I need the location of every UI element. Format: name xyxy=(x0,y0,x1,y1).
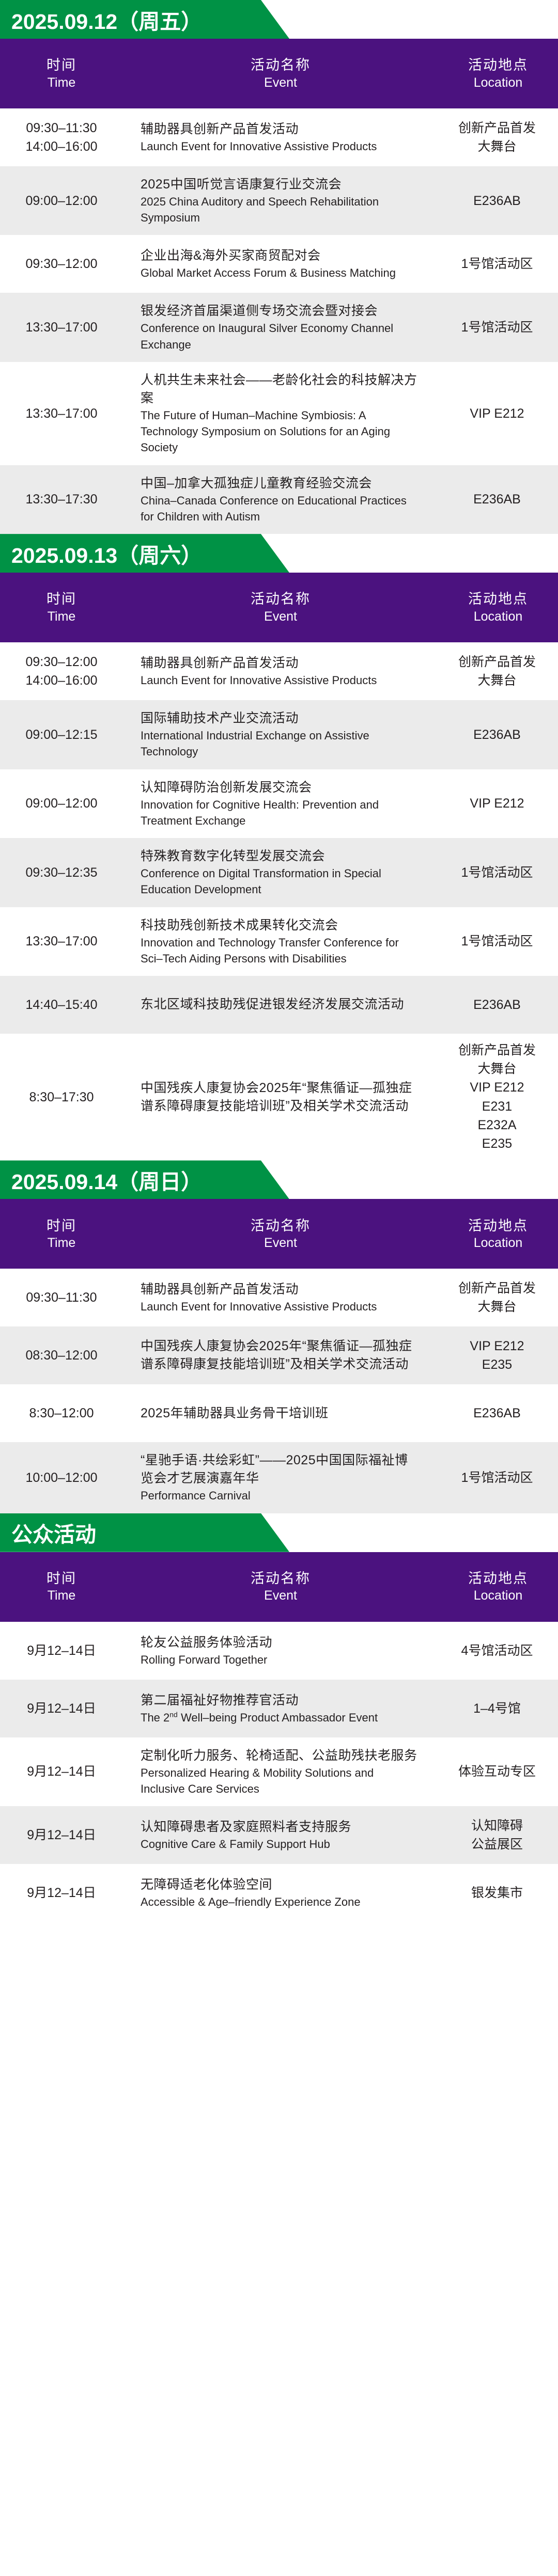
row-event-en: Cognitive Care & Family Support Hub xyxy=(141,1836,417,1852)
table-header-row: 时间Time活动名称Event活动地点Location xyxy=(0,1552,558,1622)
row-event-en: Performance Carnival xyxy=(141,1488,417,1504)
row-event: 中国残疾人康复协会2025年“聚焦循证—孤独症谱系障碍康复技能培训班”及相关学术… xyxy=(123,1070,438,1125)
ordinal-superscript: nd xyxy=(169,1710,178,1718)
day-section: 公众活动时间Time活动名称Event活动地点Location9月12–14日轮… xyxy=(0,1513,558,1922)
table-row: 08:30–12:00中国残疾人康复协会2025年“聚焦循证—孤独症谱系障碍康复… xyxy=(0,1326,558,1384)
column-header-time-en: Time xyxy=(0,1587,123,1604)
row-location: 创新产品首发 大舞台 xyxy=(438,112,558,164)
row-event-en: International Industrial Exchange on Ass… xyxy=(141,728,417,760)
row-location: 1号馆活动区 xyxy=(438,311,558,344)
row-event-en: Launch Event for Innovative Assistive Pr… xyxy=(141,1299,417,1315)
column-header-time: 时间Time xyxy=(0,1217,123,1252)
column-header-time-en: Time xyxy=(0,1235,123,1251)
row-event: 认知障碍患者及家庭照料者支持服务Cognitive Care & Family … xyxy=(123,1809,438,1861)
row-event-en: Personalized Hearing & Mobility Solution… xyxy=(141,1765,417,1797)
row-event-cn: 无障碍适老化体验空间 xyxy=(141,1876,417,1894)
row-event-cn: 企业出海&海外买家商贸配对会 xyxy=(141,247,417,265)
row-event-cn: 辅助器具创新产品首发活动 xyxy=(141,654,417,672)
table-row: 10:00–12:00“星驰手语·共绘彩虹”——2025中国国际福祉博览会才艺展… xyxy=(0,1442,558,1513)
row-event: 辅助器具创新产品首发活动Launch Event for Innovative … xyxy=(123,645,438,698)
row-event: 定制化听力服务、轮椅适配、公益助残扶老服务Personalized Hearin… xyxy=(123,1737,438,1806)
table-row: 9月12–14日认知障碍患者及家庭照料者支持服务Cognitive Care &… xyxy=(0,1806,558,1864)
row-event: 认知障碍防治创新发展交流会Innovation for Cognitive He… xyxy=(123,769,438,838)
row-location: VIP E212 xyxy=(438,787,558,820)
day-banner: 2025.09.14（周日） xyxy=(0,1160,558,1199)
column-header-location: 活动地点Location xyxy=(438,1217,558,1252)
day-banner: 公众活动 xyxy=(0,1513,558,1552)
row-event-cn: 国际辅助技术产业交流活动 xyxy=(141,709,417,728)
row-event-cn: 中国残疾人康复协会2025年“聚焦循证—孤独症谱系障碍康复技能培训班”及相关学术… xyxy=(141,1337,417,1373)
row-event-en: China–Canada Conference on Educational P… xyxy=(141,493,417,525)
day-banner-label: 2025.09.13（周六） xyxy=(11,534,202,573)
row-event: 辅助器具创新产品首发活动Launch Event for Innovative … xyxy=(123,111,438,164)
column-header-event: 活动名称Event xyxy=(123,1217,438,1252)
day-section: 2025.09.14（周日）时间Time活动名称Event活动地点Locatio… xyxy=(0,1160,558,1513)
row-event: 国际辅助技术产业交流活动International Industrial Exc… xyxy=(123,700,438,769)
table-header-row: 时间Time活动名称Event活动地点Location xyxy=(0,39,558,108)
row-event: 银发经济首届渠道侧专场交流会暨对接会Conference on Inaugura… xyxy=(123,293,438,361)
row-location: E236AB xyxy=(438,483,558,516)
row-time: 14:40–15:40 xyxy=(0,988,123,1021)
row-event-cn: 科技助残创新技术成果转化交流会 xyxy=(141,916,417,935)
row-event-cn: 2025中国听觉言语康复行业交流会 xyxy=(141,176,417,194)
row-location: E236AB xyxy=(438,1397,558,1430)
row-event: 人机共生未来社会——老龄化社会的科技解决方案The Future of Huma… xyxy=(123,362,438,465)
row-event-cn: 认知障碍防治创新发展交流会 xyxy=(141,779,417,797)
row-event: 企业出海&海外买家商贸配对会Global Market Access Forum… xyxy=(123,238,438,290)
table-row: 13:30–17:30中国–加拿大孤独症儿童教育经验交流会China–Canad… xyxy=(0,465,558,534)
row-location: 创新产品首发 大舞台 xyxy=(438,645,558,698)
column-header-time-en: Time xyxy=(0,608,123,625)
table-row: 09:30–12:00 14:00–16:00辅助器具创新产品首发活动Launc… xyxy=(0,642,558,700)
column-header-time-cn: 时间 xyxy=(0,1217,123,1235)
row-time: 09:00–12:00 xyxy=(0,787,123,820)
table-row: 09:30–11:30辅助器具创新产品首发活动Launch Event for … xyxy=(0,1269,558,1326)
row-location: 1号馆活动区 xyxy=(438,247,558,280)
row-time: 9月12–14日 xyxy=(0,1819,123,1852)
row-time: 9月12–14日 xyxy=(0,1755,123,1788)
row-location: 1号馆活动区 xyxy=(438,925,558,958)
row-time: 09:30–12:35 xyxy=(0,856,123,889)
row-event-en: The Future of Human–Machine Symbiosis: A… xyxy=(141,407,417,456)
table-row: 9月12–14日轮友公益服务体验活动Rolling Forward Togeth… xyxy=(0,1622,558,1680)
column-header-location-cn: 活动地点 xyxy=(438,1570,558,1588)
column-header-time-cn: 时间 xyxy=(0,1570,123,1588)
column-header-event-cn: 活动名称 xyxy=(123,590,438,608)
column-header-time-cn: 时间 xyxy=(0,56,123,74)
row-time: 9月12–14日 xyxy=(0,1634,123,1667)
row-event: 2025中国听觉言语康复行业交流会2025 China Auditory and… xyxy=(123,166,438,235)
row-event: 2025年辅助器具业务骨干培训班 xyxy=(123,1395,438,1432)
table-row: 13:30–17:00科技助残创新技术成果转化交流会Innovation and… xyxy=(0,907,558,976)
column-header-time: 时间Time xyxy=(0,56,123,91)
row-location: 创新产品首发 大舞台 VIP E212 E231 E232A E235 xyxy=(438,1034,558,1161)
row-event-en: 2025 China Auditory and Speech Rehabilit… xyxy=(141,194,417,226)
table-row: 9月12–14日无障碍适老化体验空间Accessible & Age–frien… xyxy=(0,1864,558,1922)
column-header-event-cn: 活动名称 xyxy=(123,1217,438,1235)
table-row: 8:30–17:30中国残疾人康复协会2025年“聚焦循证—孤独症谱系障碍康复技… xyxy=(0,1034,558,1161)
row-time: 9月12–14日 xyxy=(0,1876,123,1909)
column-header-time: 时间Time xyxy=(0,1570,123,1604)
table-row: 09:00–12:15国际辅助技术产业交流活动International Ind… xyxy=(0,700,558,769)
row-event-en: Launch Event for Innovative Assistive Pr… xyxy=(141,138,417,154)
row-event: 中国残疾人康复协会2025年“聚焦循证—孤独症谱系障碍康复技能培训班”及相关学术… xyxy=(123,1328,438,1383)
day-section: 2025.09.12（周五）时间Time活动名称Event活动地点Locatio… xyxy=(0,0,558,534)
row-event-en: Conference on Inaugural Silver Economy C… xyxy=(141,320,417,352)
day-banner: 2025.09.12（周五） xyxy=(0,0,558,39)
table-row: 09:30–12:35特殊教育数字化转型发展交流会Conference on D… xyxy=(0,838,558,907)
row-event-en: Innovation and Technology Transfer Confe… xyxy=(141,935,417,967)
row-event-cn: “星驰手语·共绘彩虹”——2025中国国际福祉博览会才艺展演嘉年华 xyxy=(141,1451,417,1488)
column-header-event-cn: 活动名称 xyxy=(123,56,438,74)
row-time: 09:00–12:15 xyxy=(0,718,123,751)
table-row: 8:30–12:002025年辅助器具业务骨干培训班E236AB xyxy=(0,1384,558,1442)
row-time: 09:00–12:00 xyxy=(0,184,123,217)
table-row: 13:30–17:00人机共生未来社会——老龄化社会的科技解决方案The Fut… xyxy=(0,362,558,465)
row-event: 第二届福祉好物推荐官活动The 2nd Well–being Product A… xyxy=(123,1682,438,1735)
column-header-location-en: Location xyxy=(438,1235,558,1251)
row-event-cn: 2025年辅助器具业务骨干培训班 xyxy=(141,1404,417,1423)
row-time: 09:30–12:00 14:00–16:00 xyxy=(0,645,123,698)
table-row: 14:40–15:40东北区域科技助残促进银发经济发展交流活动E236AB xyxy=(0,976,558,1034)
column-header-location-en: Location xyxy=(438,608,558,625)
row-event: 轮友公益服务体验活动Rolling Forward Together xyxy=(123,1624,438,1677)
row-time: 08:30–12:00 xyxy=(0,1339,123,1372)
row-event: 特殊教育数字化转型发展交流会Conference on Digital Tran… xyxy=(123,838,438,907)
row-event: 中国–加拿大孤独症儿童教育经验交流会China–Canada Conferenc… xyxy=(123,465,438,534)
column-header-time: 时间Time xyxy=(0,590,123,625)
row-time: 13:30–17:30 xyxy=(0,483,123,516)
column-header-event-en: Event xyxy=(123,1587,438,1604)
row-event-cn: 第二届福祉好物推荐官活动 xyxy=(141,1692,417,1710)
row-time: 10:00–12:00 xyxy=(0,1461,123,1494)
table-header-row: 时间Time活动名称Event活动地点Location xyxy=(0,1199,558,1269)
column-header-location: 活动地点Location xyxy=(438,1570,558,1604)
row-event: 科技助残创新技术成果转化交流会Innovation and Technology… xyxy=(123,907,438,976)
row-event-en: Accessible & Age–friendly Experience Zon… xyxy=(141,1894,417,1910)
column-header-location-en: Location xyxy=(438,74,558,91)
row-event-cn: 中国–加拿大孤独症儿童教育经验交流会 xyxy=(141,475,417,493)
row-event: 无障碍适老化体验空间Accessible & Age–friendly Expe… xyxy=(123,1867,438,1919)
row-location: 创新产品首发 大舞台 xyxy=(438,1272,558,1324)
row-event-en: Innovation for Cognitive Health: Prevent… xyxy=(141,797,417,829)
column-header-event-en: Event xyxy=(123,608,438,625)
row-event-cn: 特殊教育数字化转型发展交流会 xyxy=(141,847,417,865)
table-row: 09:30–11:30 14:00–16:00辅助器具创新产品首发活动Launc… xyxy=(0,108,558,166)
day-banner: 2025.09.13（周六） xyxy=(0,534,558,573)
row-time: 09:30–11:30 xyxy=(0,1281,123,1314)
row-location: E236AB xyxy=(438,988,558,1021)
row-location: 1–4号馆 xyxy=(438,1692,558,1725)
column-header-event: 活动名称Event xyxy=(123,590,438,625)
row-event-en: The 2nd Well–being Product Ambassador Ev… xyxy=(141,1710,417,1726)
row-location: VIP E212 E235 xyxy=(438,1330,558,1382)
row-event-cn: 东北区域科技助残促进银发经济发展交流活动 xyxy=(141,995,417,1014)
row-time: 9月12–14日 xyxy=(0,1692,123,1725)
row-event-cn: 中国残疾人康复协会2025年“聚焦循证—孤独症谱系障碍康复技能培训班”及相关学术… xyxy=(141,1079,417,1115)
row-location: 4号馆活动区 xyxy=(438,1634,558,1667)
day-banner-label: 2025.09.14（周日） xyxy=(11,1160,202,1199)
row-event: “星驰手语·共绘彩虹”——2025中国国际福祉博览会才艺展演嘉年华Perform… xyxy=(123,1442,438,1513)
row-location: VIP E212 xyxy=(438,397,558,430)
row-event-en: Launch Event for Innovative Assistive Pr… xyxy=(141,672,417,688)
table-row: 9月12–14日第二届福祉好物推荐官活动The 2nd Well–being P… xyxy=(0,1680,558,1737)
row-event: 辅助器具创新产品首发活动Launch Event for Innovative … xyxy=(123,1271,438,1324)
table-row: 13:30–17:00银发经济首届渠道侧专场交流会暨对接会Conference … xyxy=(0,293,558,361)
row-event-cn: 银发经济首届渠道侧专场交流会暨对接会 xyxy=(141,302,417,320)
row-time: 8:30–17:30 xyxy=(0,1081,123,1114)
row-event: 东北区域科技助残促进银发经济发展交流活动 xyxy=(123,986,438,1023)
day-banner-label: 公众活动 xyxy=(11,1513,96,1552)
day-banner-label: 2025.09.12（周五） xyxy=(11,0,202,39)
row-event-cn: 辅助器具创新产品首发活动 xyxy=(141,120,417,138)
row-time: 13:30–17:00 xyxy=(0,311,123,344)
column-header-location-en: Location xyxy=(438,1587,558,1604)
column-header-location-cn: 活动地点 xyxy=(438,56,558,74)
event-schedule: 2025.09.12（周五）时间Time活动名称Event活动地点Locatio… xyxy=(0,0,558,1922)
row-time: 13:30–17:00 xyxy=(0,397,123,430)
row-location: 1号馆活动区 xyxy=(438,856,558,889)
column-header-event: 活动名称Event xyxy=(123,1570,438,1604)
column-header-time-en: Time xyxy=(0,74,123,91)
row-event-cn: 辅助器具创新产品首发活动 xyxy=(141,1281,417,1299)
column-header-location: 活动地点Location xyxy=(438,590,558,625)
column-header-location-cn: 活动地点 xyxy=(438,1217,558,1235)
row-event-en: Conference on Digital Transformation in … xyxy=(141,865,417,897)
row-time: 09:30–12:00 xyxy=(0,247,123,280)
row-location: 体验互动专区 xyxy=(438,1755,558,1788)
row-location: E236AB xyxy=(438,718,558,751)
row-event-en: Global Market Access Forum & Business Ma… xyxy=(141,265,417,281)
row-time: 09:30–11:30 14:00–16:00 xyxy=(0,112,123,164)
column-header-time-cn: 时间 xyxy=(0,590,123,608)
table-row: 9月12–14日定制化听力服务、轮椅适配、公益助残扶老服务Personalize… xyxy=(0,1737,558,1806)
row-location: 银发集市 xyxy=(438,1876,558,1909)
column-header-event-en: Event xyxy=(123,74,438,91)
row-event-cn: 人机共生未来社会——老龄化社会的科技解决方案 xyxy=(141,371,417,407)
table-header-row: 时间Time活动名称Event活动地点Location xyxy=(0,573,558,642)
row-location: 认知障碍 公益展区 xyxy=(438,1809,558,1861)
table-row: 09:00–12:00认知障碍防治创新发展交流会Innovation for C… xyxy=(0,769,558,838)
row-location: E236AB xyxy=(438,184,558,217)
column-header-event-en: Event xyxy=(123,1235,438,1251)
column-header-event-cn: 活动名称 xyxy=(123,1570,438,1588)
table-row: 09:00–12:002025中国听觉言语康复行业交流会2025 China A… xyxy=(0,166,558,235)
row-time: 8:30–12:00 xyxy=(0,1397,123,1430)
row-event-en: Rolling Forward Together xyxy=(141,1652,417,1668)
column-header-event: 活动名称Event xyxy=(123,56,438,91)
row-location: 1号馆活动区 xyxy=(438,1461,558,1494)
table-row: 09:30–12:00企业出海&海外买家商贸配对会Global Market A… xyxy=(0,235,558,293)
row-event-cn: 定制化听力服务、轮椅适配、公益助残扶老服务 xyxy=(141,1747,417,1765)
column-header-location: 活动地点Location xyxy=(438,56,558,91)
row-event-cn: 轮友公益服务体验活动 xyxy=(141,1634,417,1652)
day-section: 2025.09.13（周六）时间Time活动名称Event活动地点Locatio… xyxy=(0,534,558,1160)
row-time: 13:30–17:00 xyxy=(0,925,123,958)
column-header-location-cn: 活动地点 xyxy=(438,590,558,608)
row-event-cn: 认知障碍患者及家庭照料者支持服务 xyxy=(141,1818,417,1836)
